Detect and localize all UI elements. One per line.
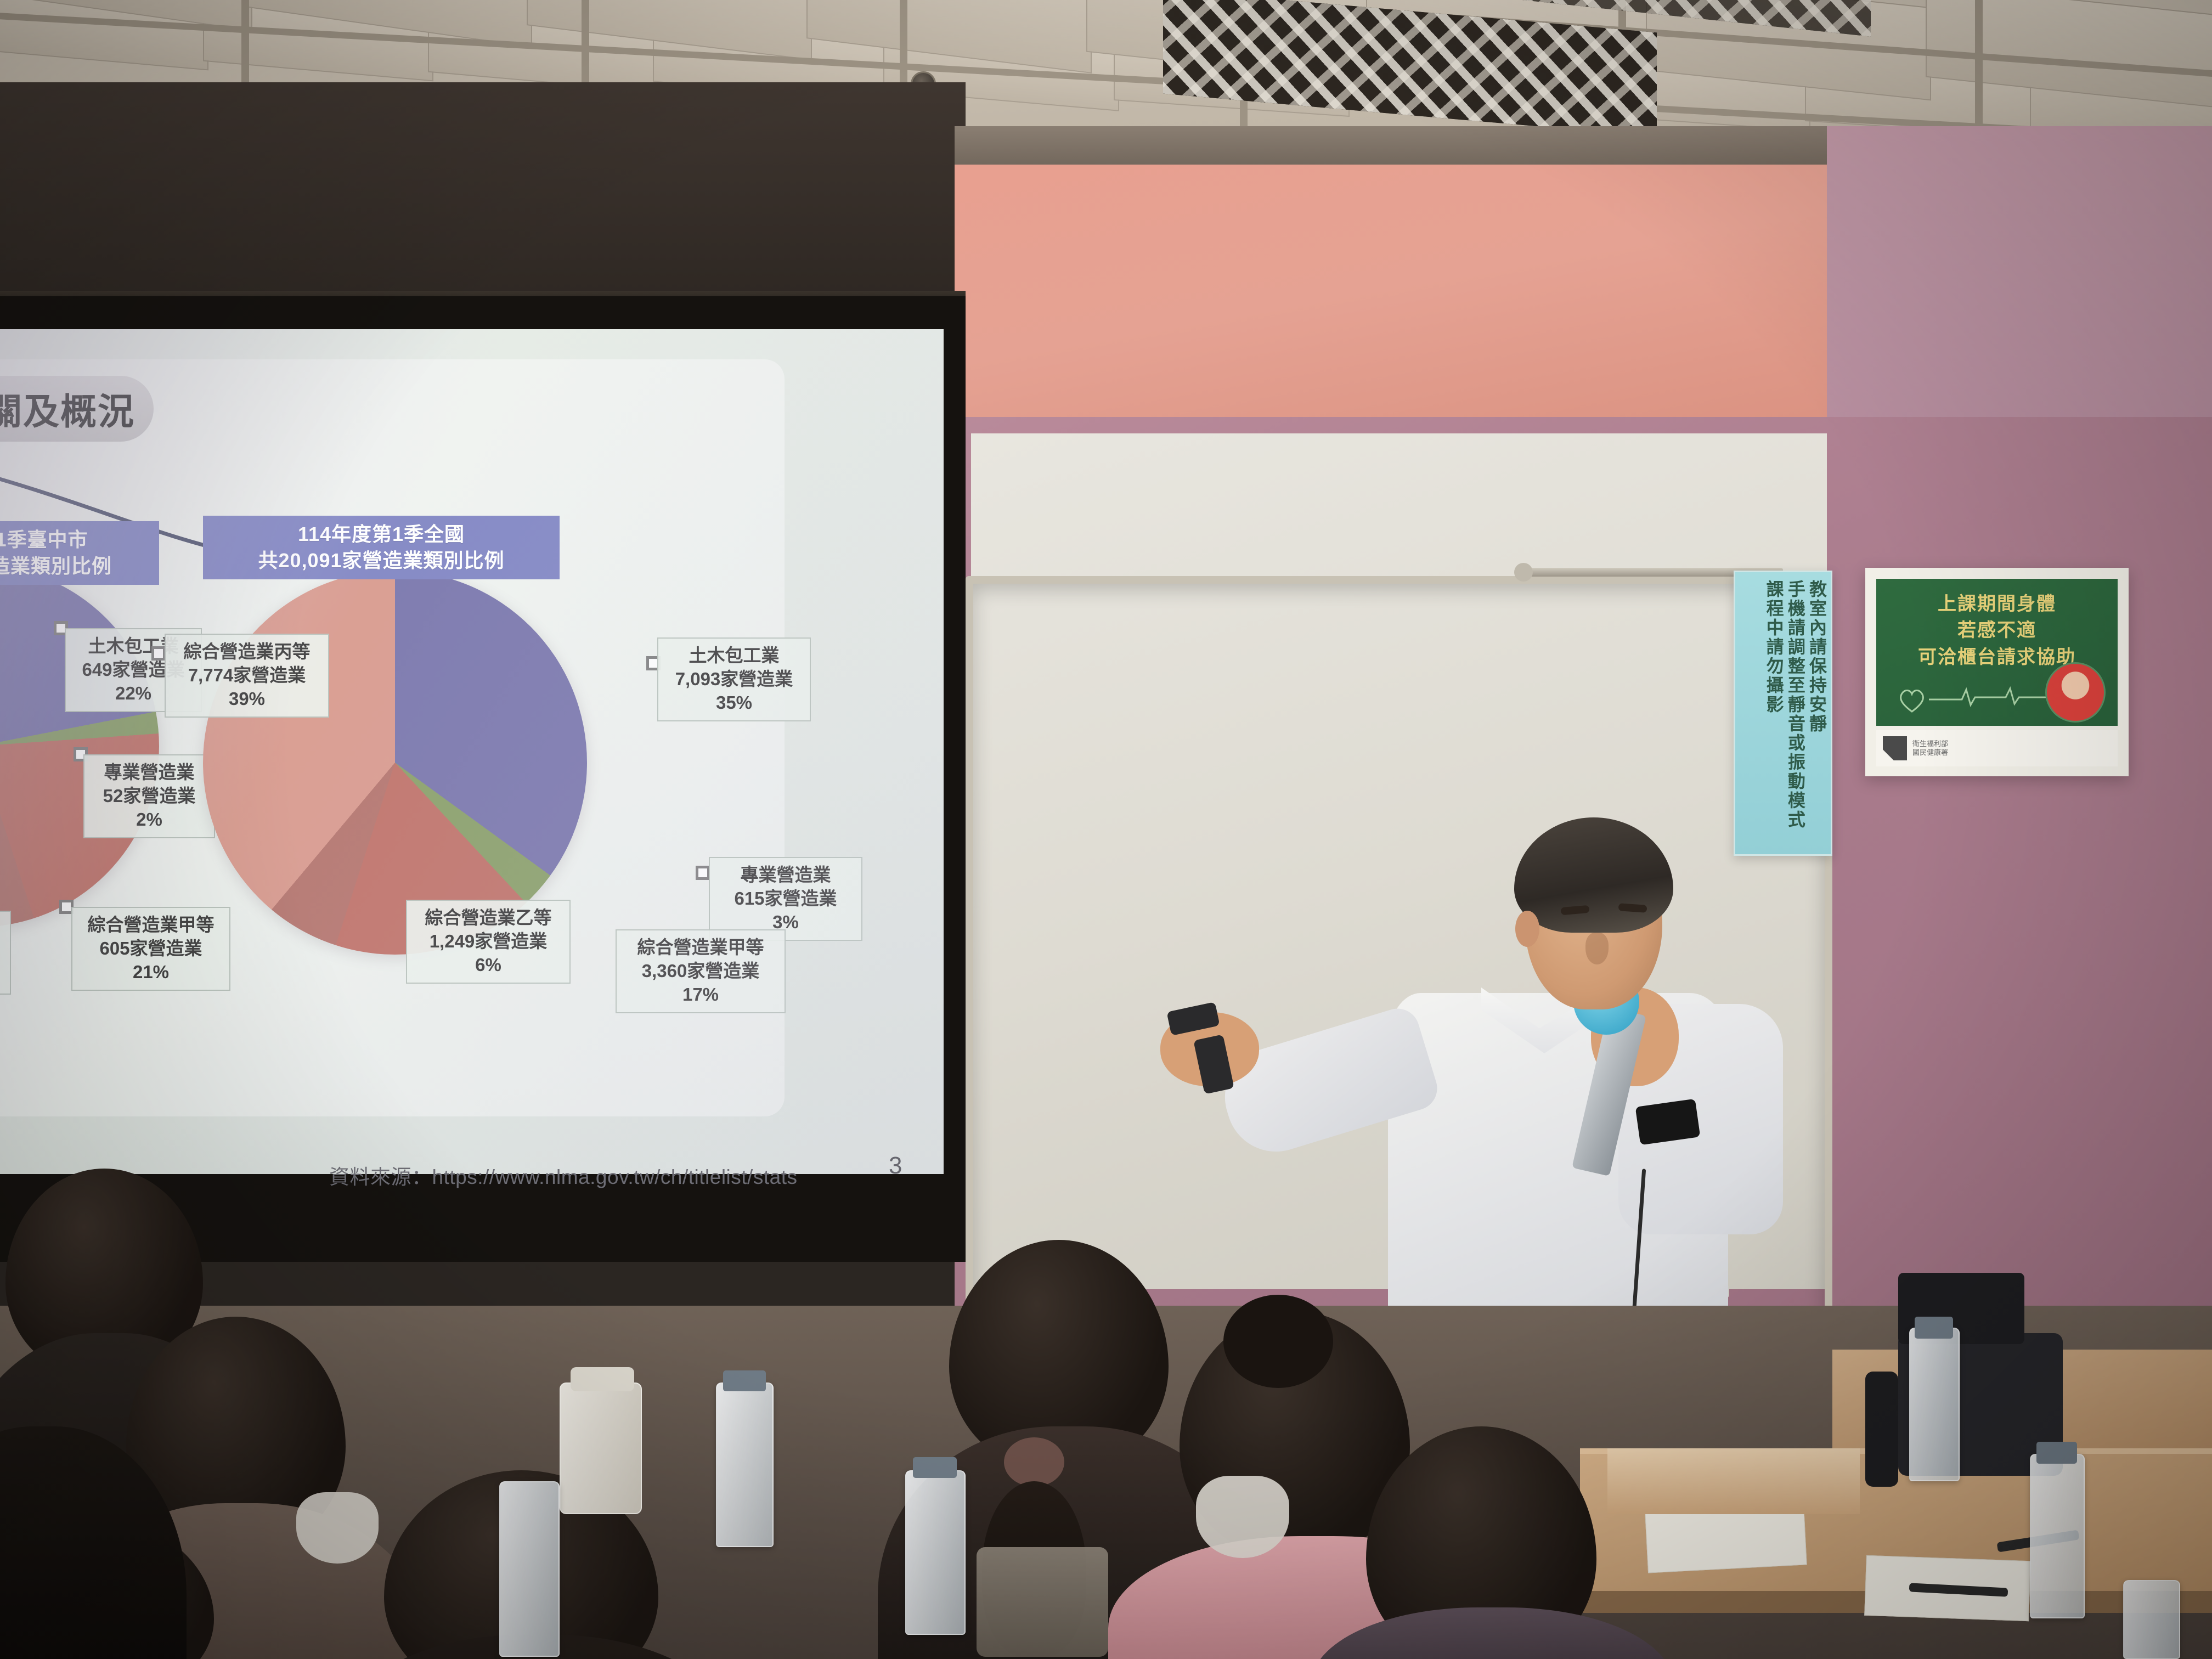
ceiling-rail — [241, 0, 249, 82]
chart-title-taichung-line2: 共2,882家營造業類別比例 — [0, 553, 150, 579]
callout-count: 3,360家營造業 — [624, 960, 777, 983]
pie-chart-national — [203, 571, 587, 955]
face-mask — [296, 1492, 379, 1564]
agency-logo-icon — [1883, 736, 1907, 760]
presenter-ear — [1515, 911, 1539, 947]
poster-footer-line-2: 國民健康署 — [1912, 748, 1948, 757]
callout-name: 土木包工業 — [666, 644, 802, 668]
callout-count: 1,249家營造業 — [415, 930, 562, 953]
tumbler-lid[interactable] — [571, 1367, 634, 1391]
slide-canvas: 關及概況 造業 114年度第1季臺中市 共2,882家營造業類別比例 土木包工業… — [0, 329, 944, 1174]
callout-percent: 6% — [415, 953, 562, 977]
table-top-highlight — [1607, 1448, 1860, 1514]
water-bottle[interactable] — [716, 1383, 774, 1547]
chart-title-national-line1: 114年度第1季全國 — [212, 521, 551, 548]
leader-marker — [696, 866, 710, 880]
slide-source-note: 資料來源：https://www.nlma.gov.tw/ch/titlelis… — [329, 1160, 797, 1190]
callout-name: 綜合營造業甲等 — [624, 936, 777, 960]
callout-count: 8家營造業 — [0, 941, 2, 964]
slide-page-number: 3 — [889, 1152, 902, 1180]
callout-percent: 39% — [173, 687, 320, 711]
callout-taichung-specialty: 專業營造業 52家營造業 2% — [83, 754, 215, 838]
callout-count: 7,093家營造業 — [666, 668, 802, 691]
face-mask — [1196, 1476, 1289, 1558]
bottle-cap[interactable] — [2036, 1442, 2077, 1464]
chart-title-taichung-line1: 114年度第1季臺中市 — [0, 527, 150, 553]
leader-marker — [151, 646, 166, 661]
chart-title-national: 114年度第1季全國 共20,091家營造業類別比例 — [203, 516, 560, 579]
callout-count: 605家營造業 — [80, 937, 222, 961]
photo-scene: 教室內請保持安靜 手機請調整至靜音或振動模式 課程中請勿攝影 上課期間身體 若感… — [0, 0, 2212, 1659]
callout-count: 7,774家營造業 — [173, 664, 320, 687]
classroom-rules-sign: 教室內請保持安靜 手機請調整至靜音或振動模式 課程中請勿攝影 — [1734, 571, 1832, 856]
callout-percent: 35% — [666, 691, 802, 715]
callout-national-grade-c: 綜合營造業丙等 7,774家營造業 39% — [165, 634, 329, 718]
heart-icon — [1897, 686, 1927, 714]
chart-title-national-line2: 共20,091家營造業類別比例 — [212, 548, 551, 574]
hair-bun — [1223, 1295, 1333, 1388]
sign-column-3: 課程中請勿攝影 — [1764, 580, 1783, 847]
callout-count: 52家營造業 — [92, 785, 206, 808]
hair-scrunchie — [1004, 1437, 1064, 1487]
callout-percent: 17% — [624, 983, 777, 1007]
callout-national-civil: 土木包工業 7,093家營造業 35% — [657, 637, 811, 721]
wall-peach-panel — [955, 165, 1843, 450]
callout-taichung-grade-b: 營造業乙等 8家營造業 8% — [0, 911, 11, 995]
callout-taichung-grade-a: 綜合營造業甲等 605家營造業 21% — [71, 907, 230, 991]
water-bottle[interactable] — [499, 1481, 560, 1657]
sign-column-2: 手機請調整至靜音或振動模式 — [1786, 580, 1805, 847]
callout-percent: 2% — [92, 808, 206, 832]
callout-count: 615家營造業 — [718, 887, 854, 911]
callout-national-grade-b: 綜合營造業乙等 1,249家營造業 6% — [406, 900, 571, 984]
poster-footer-line-1: 衛生福利部 — [1912, 740, 1948, 748]
callout-percent: 21% — [80, 961, 222, 984]
callout-percent: 8% — [0, 964, 2, 988]
callout-name: 專業營造業 — [92, 761, 206, 785]
chair-armrest[interactable] — [1865, 1372, 1898, 1487]
chart-title-taichung: 114年度第1季臺中市 共2,882家營造業類別比例 — [0, 521, 159, 585]
callout-national-specialty: 專業營造業 615家營造業 3% — [709, 857, 862, 941]
projector-mount-knob — [1514, 563, 1533, 582]
callout-name: 綜合營造業乙等 — [415, 906, 562, 930]
thermos-tumbler[interactable] — [560, 1383, 642, 1514]
poster-footer-text: 衛生福利部 國民健康署 — [1912, 740, 1948, 758]
poster-footer: 衛生福利部 國民健康署 — [1876, 730, 2118, 766]
water-bottle[interactable] — [1909, 1328, 1960, 1481]
slide-title: 關及概況 — [0, 376, 154, 442]
audience-chair-back[interactable] — [977, 1547, 1108, 1657]
poster-line-2: 若感不適 — [1876, 617, 2118, 644]
bottle-cap[interactable] — [913, 1457, 957, 1478]
callout-national-grade-a: 綜合營造業甲等 3,360家營造業 17% — [616, 929, 786, 1013]
poster-green-panel: 上課期間身體 若感不適 可洽櫃台請求協助 — [1876, 579, 2118, 726]
callout-name: 專業營造業 — [718, 864, 854, 887]
callout-name: 綜合營造業丙等 — [173, 640, 320, 664]
presenter-nose — [1585, 933, 1609, 964]
health-notice-poster: 上課期間身體 若感不適 可洽櫃台請求協助 衛生福利部 國民健康署 — [1865, 568, 2129, 776]
bottle-cap[interactable] — [1915, 1317, 1953, 1339]
water-bottle[interactable] — [2123, 1580, 2180, 1659]
sign-column-1: 教室內請保持安靜 — [1807, 580, 1826, 847]
water-bottle[interactable] — [905, 1470, 966, 1635]
callout-name: 營造業乙等 — [0, 917, 2, 941]
poster-line-1: 上課期間身體 — [1876, 591, 2118, 617]
water-bottle[interactable] — [2030, 1454, 2085, 1618]
bottle-cap[interactable] — [723, 1370, 766, 1391]
doctor-avatar — [2045, 662, 2106, 723]
poster-text: 上課期間身體 若感不適 可洽櫃台請求協助 — [1876, 591, 2118, 670]
callout-name: 綜合營造業甲等 — [80, 913, 222, 937]
